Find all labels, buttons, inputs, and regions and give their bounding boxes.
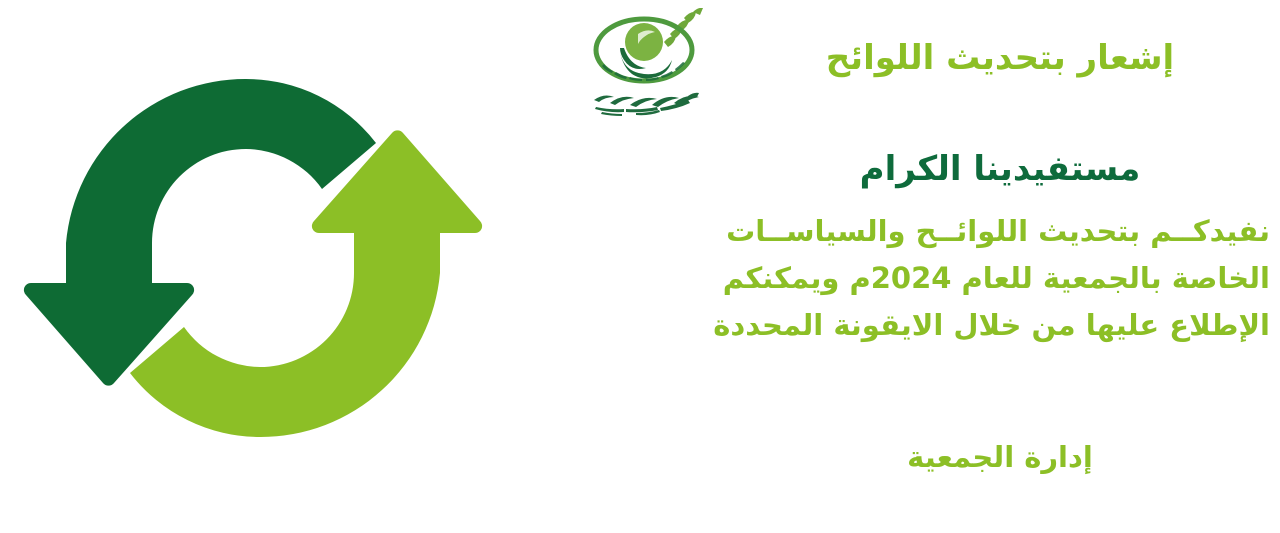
- salutation-heading: مستفيدينا الكرام: [735, 148, 1265, 191]
- body-paragraph: نفيدكــم بتحديث اللوائــح والسياســات ال…: [730, 208, 1270, 349]
- body-line-2: الخاصة بالجمعية للعام 2024م ويمكنكم: [730, 255, 1270, 302]
- globe-icon: [625, 23, 663, 61]
- signature-line: إدارة الجمعية: [735, 440, 1265, 474]
- body-line-1: نفيدكــم بتحديث اللوائــح والسياســات: [730, 208, 1270, 255]
- content-column: إشعار بتحديث اللوائح مستفيدينا الكرام نف…: [520, 0, 1280, 533]
- body-line-3: الإطلاع عليها من خلال الايقونة المحددة: [730, 302, 1270, 349]
- recycle-refresh-graphic: [18, 58, 488, 458]
- poster-canvas: إشعار بتحديث اللوائح مستفيدينا الكرام نف…: [0, 0, 1280, 533]
- logo-wordmark: [594, 93, 699, 116]
- page-title: إشعار بتحديث اللوائح: [735, 38, 1265, 79]
- wheat-icon: [664, 8, 703, 47]
- charity-logo: [580, 8, 720, 128]
